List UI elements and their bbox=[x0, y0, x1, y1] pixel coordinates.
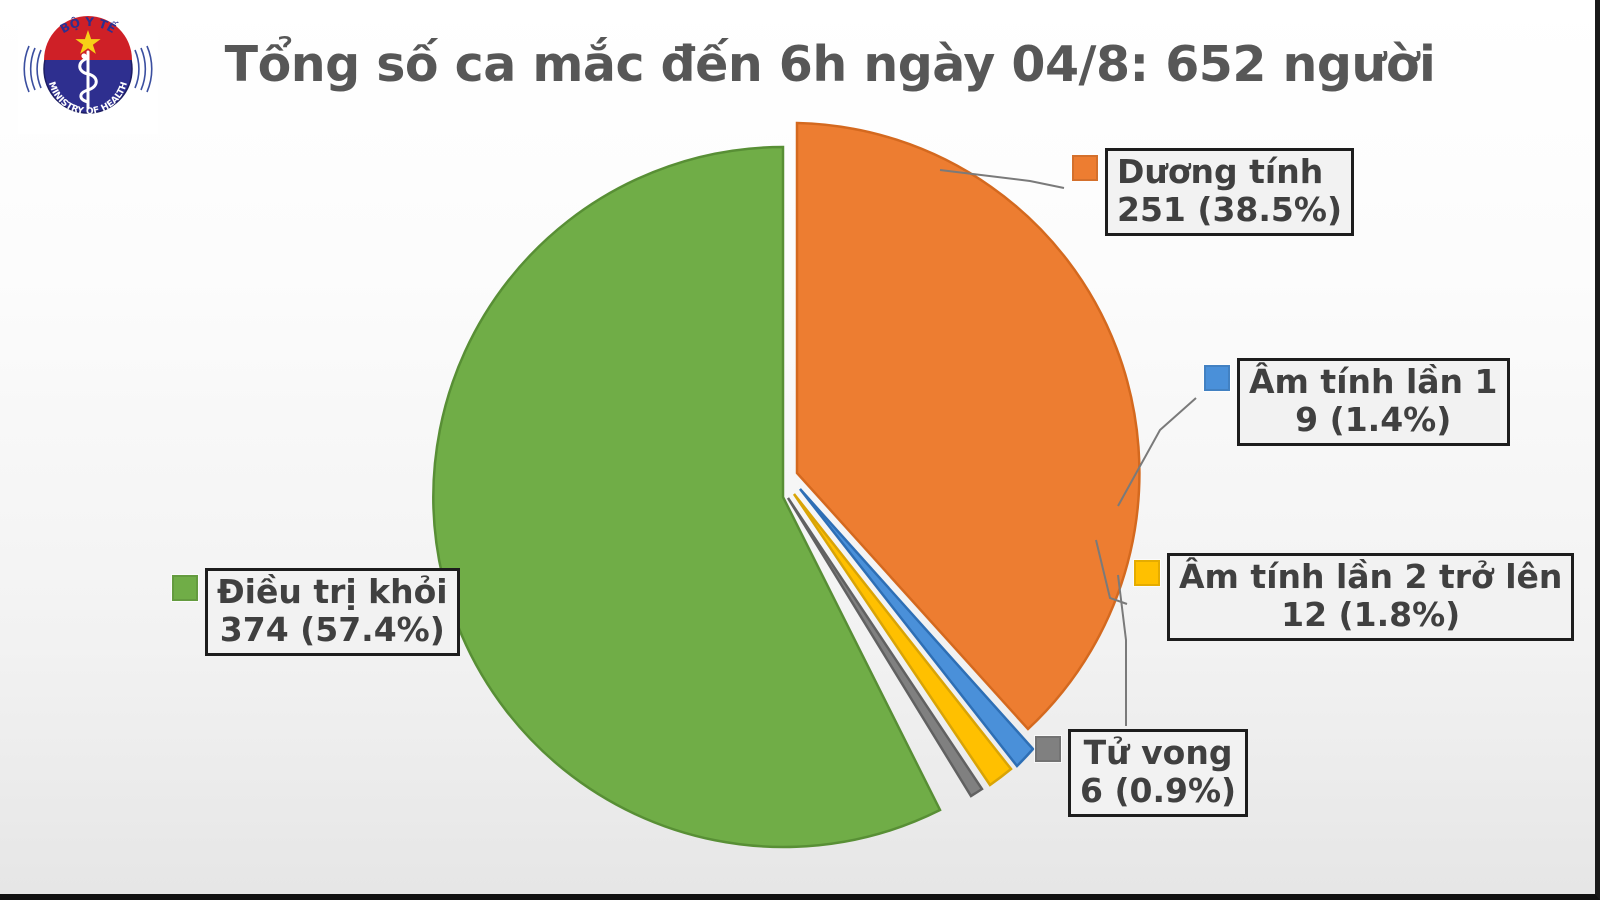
callout-negative-2-plus[interactable]: Âm tính lần 2 trở lên 12 (1.8%) bbox=[1134, 553, 1574, 641]
callout-label-negative-2-plus: Âm tính lần 2 trở lên bbox=[1179, 558, 1562, 596]
callout-recovered[interactable]: Điều trị khỏi 374 (57.4%) bbox=[172, 568, 460, 656]
callout-value-positive: 251 (38.5%) bbox=[1117, 191, 1342, 229]
callout-deaths[interactable]: Tử vong 6 (0.9%) bbox=[1035, 729, 1248, 817]
callout-label-positive: Dương tính bbox=[1117, 153, 1342, 191]
callout-positive[interactable]: Dương tính 251 (38.5%) bbox=[1072, 148, 1354, 236]
callout-box-positive: Dương tính 251 (38.5%) bbox=[1105, 148, 1354, 236]
callout-box-negative-2-plus: Âm tính lần 2 trở lên 12 (1.8%) bbox=[1167, 553, 1574, 641]
callout-value-negative-1: 9 (1.4%) bbox=[1249, 401, 1498, 439]
callout-value-deaths: 6 (0.9%) bbox=[1080, 772, 1236, 810]
callout-label-recovered: Điều trị khỏi bbox=[217, 573, 448, 611]
legend-swatch-recovered bbox=[172, 575, 198, 601]
legend-swatch-deaths bbox=[1035, 736, 1061, 762]
callout-label-negative-1: Âm tính lần 1 bbox=[1249, 363, 1498, 401]
legend-swatch-negative-2-plus bbox=[1134, 560, 1160, 586]
legend-swatch-positive bbox=[1072, 155, 1098, 181]
ministry-of-health-logo: BỘ Y TẾ MINISTRY OF HEALTH bbox=[18, 4, 158, 134]
callout-negative-1[interactable]: Âm tính lần 1 9 (1.4%) bbox=[1204, 358, 1510, 446]
callout-box-recovered: Điều trị khỏi 374 (57.4%) bbox=[205, 568, 460, 656]
page-title: Tổng số ca mắc đến 6h ngày 04/8: 652 ngư… bbox=[180, 36, 1480, 93]
legend-swatch-negative-1 bbox=[1204, 365, 1230, 391]
callout-value-negative-2-plus: 12 (1.8%) bbox=[1179, 596, 1562, 634]
callout-label-deaths: Tử vong bbox=[1080, 734, 1236, 772]
slide-canvas: BỘ Y TẾ MINISTRY OF HEALTH Tổng số ca mắ… bbox=[0, 0, 1600, 900]
callout-box-deaths: Tử vong 6 (0.9%) bbox=[1068, 729, 1248, 817]
callout-value-recovered: 374 (57.4%) bbox=[217, 611, 448, 649]
callout-box-negative-1: Âm tính lần 1 9 (1.4%) bbox=[1237, 358, 1510, 446]
